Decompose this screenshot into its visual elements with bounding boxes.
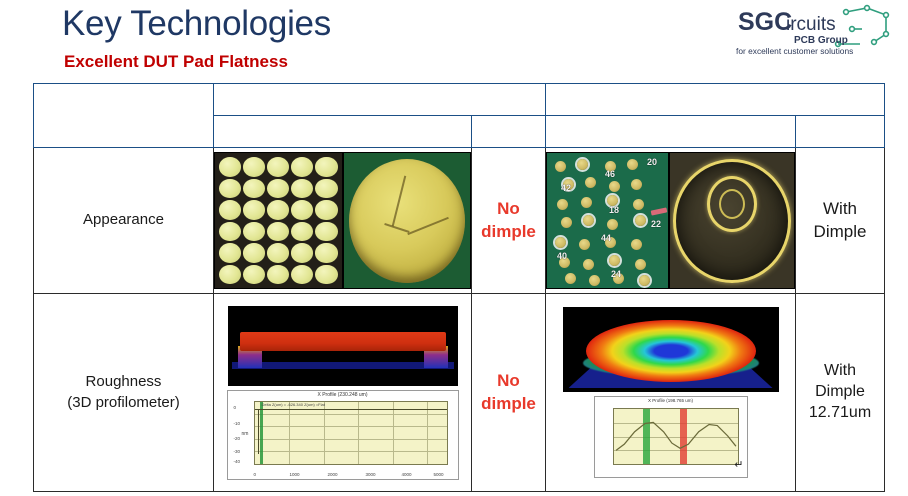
page-title: Key Technologies xyxy=(62,4,331,44)
cell-normal-appearance-pictures: 20 46 42 18 22 44 40 24 xyxy=(546,148,796,294)
table-row: Roughness (3D profilometer) X Profile (2… xyxy=(34,294,885,492)
header-item: Item xyxy=(34,84,214,148)
table-header-row-1: Item ATE Pads Normal Product Pads xyxy=(34,84,885,116)
logo-brand-main: SGC xyxy=(738,8,792,36)
result-ate-roughness: No dimple xyxy=(472,294,546,492)
logo-brand-sub: PCB Group xyxy=(794,35,848,46)
ate-x-profile-delta-label: Delta Z(um) = -626.340 Z(um) =Flat xyxy=(262,402,325,407)
cell-ate-appearance-pictures xyxy=(214,148,472,294)
normal-x-profile-curve xyxy=(614,409,738,467)
ate-x-profile-ylabel: nm xyxy=(242,431,249,437)
dimple-micrograph-photo xyxy=(669,152,795,289)
header-normal-result: Result xyxy=(796,116,885,148)
header-ate-picture: Picture xyxy=(214,116,472,148)
header-ate-result: Result xyxy=(472,116,546,148)
ate-pad-array-photo xyxy=(214,152,343,289)
ate-x-profile-chart: X Profile (230.248 um) nm Delt xyxy=(227,390,459,480)
normal-x-profile-chart: X Profile (198.765 um) ANSI X(um) dZ (P)… xyxy=(594,396,748,478)
result-normal-appearance: With Dimple xyxy=(796,148,885,294)
normal-x-profile-title: X Profile (198.765 um) xyxy=(595,398,747,403)
ate-x-profile-plot xyxy=(254,401,448,465)
logo-brand-rest: ircuits xyxy=(786,14,836,35)
header-ate-pads: ATE Pads xyxy=(214,84,546,116)
header-normal-product-pads: Normal Product Pads xyxy=(546,84,885,116)
cell-normal-roughness-pictures: X Profile (198.765 um) ANSI X(um) dZ (P)… xyxy=(546,294,796,492)
result-normal-roughness: With Dimple 12.71um xyxy=(796,294,885,492)
ate-x-profile-title: X Profile (230.248 um) xyxy=(228,392,458,398)
ate-3d-profile-flat xyxy=(228,306,458,386)
result-ate-appearance: No dimple xyxy=(472,148,546,294)
header-normal-picture: Picture xyxy=(546,116,796,148)
cell-ate-roughness-pictures: X Profile (230.248 um) nm Delt xyxy=(214,294,472,492)
normal-pcb-pads-photo: 20 46 42 18 22 44 40 24 xyxy=(546,152,669,289)
page-subtitle: Excellent DUT Pad Flatness xyxy=(64,52,288,72)
ate-single-pad-photo xyxy=(343,152,472,289)
row-item-appearance: Appearance xyxy=(34,148,214,294)
logo-tagline: for excellent customer solutions xyxy=(736,46,853,56)
return-arrow-icon: ↵ xyxy=(734,460,743,471)
table-row: Appearance xyxy=(34,148,885,294)
normal-x-profile-plot xyxy=(613,408,739,465)
sgcircuits-logo: SGC ircuits PCB Group for excellent cust… xyxy=(734,4,894,58)
key-technologies-table: Item ATE Pads Normal Product Pads Pictur… xyxy=(33,83,885,492)
normal-3d-profile-crater xyxy=(563,307,779,392)
row-item-roughness: Roughness (3D profilometer) xyxy=(34,294,214,492)
